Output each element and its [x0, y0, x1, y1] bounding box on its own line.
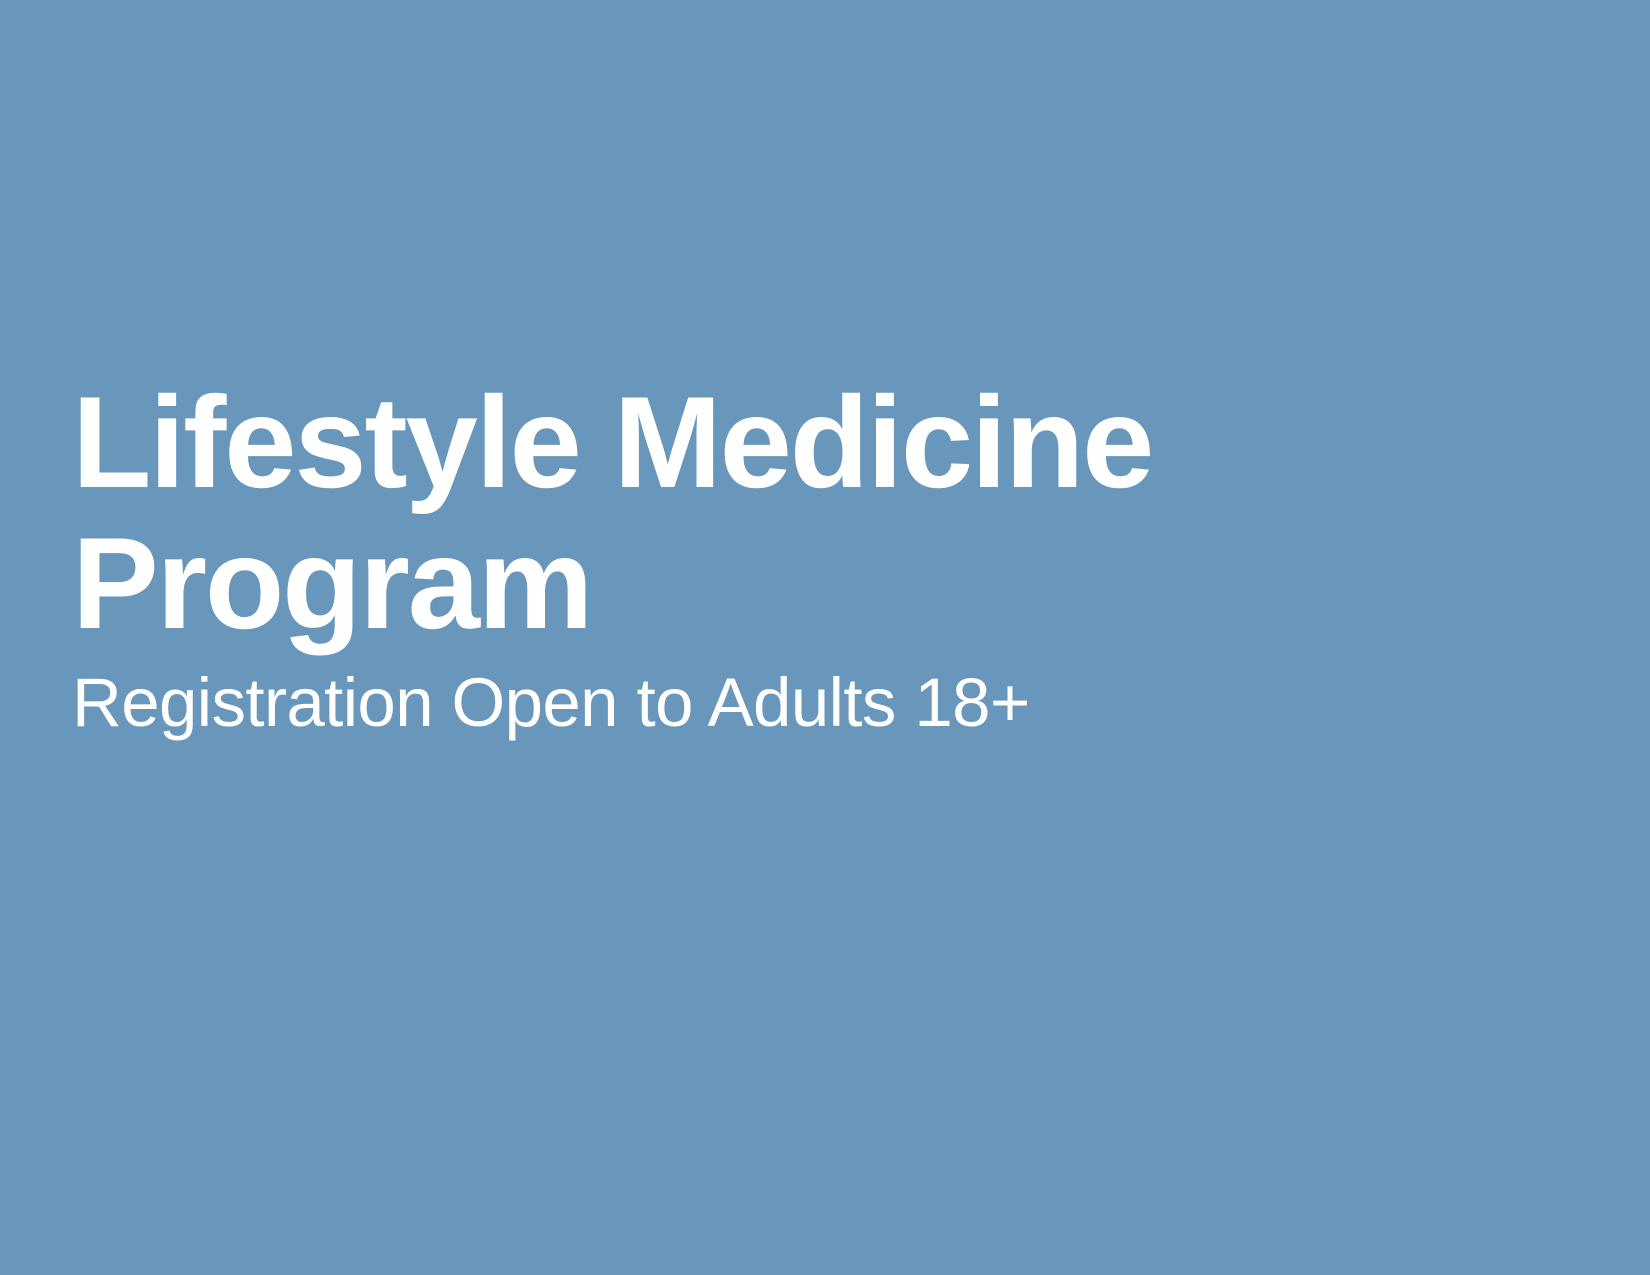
- page-title: Lifestyle Medicine Program: [72, 372, 1297, 654]
- banner-subtitle: Registration Open to Adults 18+: [72, 664, 1372, 741]
- promo-banner: Lifestyle Medicine Program Registration …: [0, 0, 1650, 1275]
- banner-content: Lifestyle Medicine Program Registration …: [72, 372, 1372, 741]
